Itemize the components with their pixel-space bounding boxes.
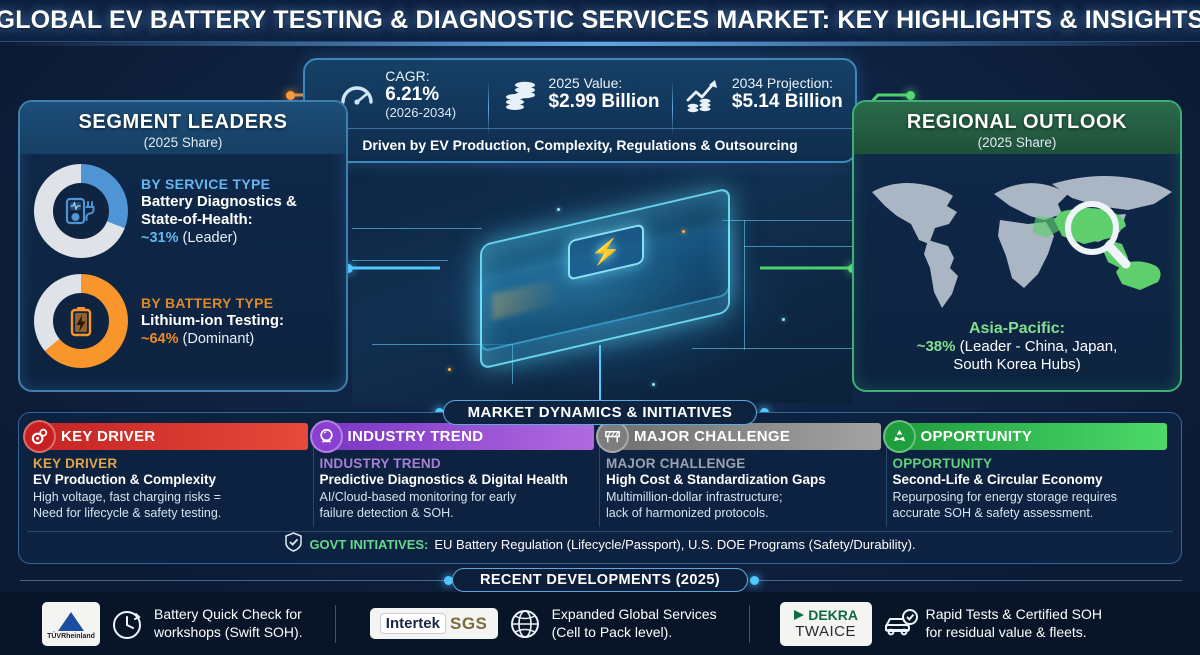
battery-type-share-value: ~64% (141, 331, 179, 347)
shield-check-icon (284, 532, 303, 557)
key-driver-kicker: KEY DRIVER (33, 456, 308, 471)
kpi-cagr-label: CAGR: (385, 68, 456, 84)
regional-outlook-panel: REGIONAL OUTLOOK (2025 Share) (852, 100, 1182, 392)
segment-leaders-subheading: (2025 Share) (144, 135, 223, 150)
major-challenge-desc: Multimillion-dollar infrastructure; lack… (606, 489, 881, 522)
recycle-icon (883, 420, 916, 453)
regional-outlook-subheading: (2025 Share) (978, 135, 1057, 150)
govt-initiatives-row: GOVT INITIATIVES: EU Battery Regulation … (27, 531, 1173, 557)
page-title: GLOBAL EV BATTERY TESTING & DIAGNOSTIC S… (0, 6, 1200, 35)
industry-trend-kicker: INDUSTRY TREND (320, 456, 595, 471)
coins-icon (501, 74, 541, 114)
title-bar: GLOBAL EV BATTERY TESTING & DIAGNOSTIC S… (0, 0, 1200, 42)
connector-node-orange-top (286, 91, 295, 100)
market-dynamics-box: KEY DRIVER KEY DRIVER EV Production & Co… (18, 412, 1182, 564)
govt-initiatives-text: EU Battery Regulation (Lifecycle/Passpor… (434, 537, 915, 552)
battery-type-qualifier: (Dominant) (183, 331, 255, 347)
opportunity-kicker: OPPORTUNITY (893, 456, 1168, 471)
recent-developments-section-label: RECENT DEVELOPMENTS (2025) (452, 568, 748, 592)
tuv-logo-text: TÜVRheinland (47, 633, 95, 640)
recent-dev-item-1: TÜVRheinland Battery Quick Check for wor… (42, 602, 303, 646)
region-share-value: ~38% (917, 338, 956, 355)
dekra-logo-text: DEKRA (808, 607, 858, 623)
service-type-share: ~31% (Leader) (141, 230, 297, 246)
kpi-2025-value: 2025 Value: $2.99 Billion (488, 74, 671, 114)
dekra-triangle-icon (793, 609, 805, 621)
kpi-cagr-value: 6.21% (385, 84, 456, 106)
recent-dev-text-1: Battery Quick Check for workshops (Swift… (154, 606, 303, 641)
kpi-bar: CAGR: 6.21% (2026-2034) (303, 58, 857, 163)
recent-dev-divider-1 (335, 605, 336, 643)
regional-outlook-heading: REGIONAL OUTLOOK (907, 111, 1127, 134)
globe-icon (507, 606, 543, 642)
car-check-icon (881, 606, 917, 642)
kpi-2034-amount: $5.14 Billion (732, 91, 843, 113)
recent-dev-divider-2 (749, 605, 750, 643)
recent-dev-item-2: Intertek SGS Expanded Global Services (C… (370, 606, 717, 642)
opportunity-title: Second-Life & Circular Economy (893, 472, 1168, 487)
battery-type-name: Lithium-ion Testing: (141, 312, 284, 330)
opportunity-desc: Repurposing for energy storage requires … (893, 489, 1168, 522)
recent-developments-row: TÜVRheinland Battery Quick Check for wor… (0, 592, 1200, 655)
industry-trend-header: INDUSTRY TREND (320, 423, 595, 450)
infographic-root: GLOBAL EV BATTERY TESTING & DIAGNOSTIC S… (0, 0, 1200, 655)
kpi-2034-label: 2034 Projection: (732, 75, 843, 91)
industry-trend-header-label: INDUSTRY TREND (348, 428, 484, 445)
crystal-ball-icon (310, 420, 343, 453)
kpi-footer-note: Driven by EV Production, Complexity, Reg… (305, 128, 855, 161)
gears-icon (23, 420, 56, 453)
govt-initiatives-label: GOVT INITIATIVES: (309, 537, 428, 552)
battery-type-donut-chart (34, 274, 128, 368)
recent-dev-item-3: DEKRA TWAICE Rapid Tests & Certified SOH… (780, 602, 1102, 646)
recent-dev-text-3: Rapid Tests & Certified SOH for residual… (926, 606, 1102, 641)
dynamics-col-key-driver: KEY DRIVER KEY DRIVER EV Production & Co… (27, 423, 314, 522)
battery-bolt-icon (53, 293, 109, 349)
title-glow-divider (0, 42, 1200, 46)
regional-outlook-header: REGIONAL OUTLOOK (2025 Share) (854, 102, 1180, 154)
region-detail-text: (Leader - China, Japan, South Korea Hubs… (953, 338, 1117, 373)
key-driver-title: EV Production & Complexity (33, 472, 308, 487)
twaice-logo-text: TWAICE (795, 623, 856, 640)
industry-trend-title: Predictive Diagnostics & Digital Health (320, 472, 595, 487)
segment-row-battery-type: BY BATTERY TYPE Lithium-ion Testing: ~64… (20, 258, 346, 368)
world-map (854, 158, 1180, 318)
dynamics-col-major-challenge: MAJOR CHALLENGE MAJOR CHALLENGE High Cos… (600, 423, 887, 522)
opportunity-header: OPPORTUNITY (893, 423, 1168, 450)
key-driver-header: KEY DRIVER (33, 423, 308, 450)
clock-refresh-icon (109, 606, 145, 642)
kpi-2034-projection: 2034 Projection: $5.14 Billion (672, 74, 855, 114)
segment-leaders-heading: SEGMENT LEADERS (78, 111, 287, 134)
battery-top (480, 187, 730, 370)
industry-trend-desc: AI/Cloud-based monitoring for early fail… (320, 489, 595, 522)
market-dynamics-section-label: MARKET DYNAMICS & INITIATIVES (443, 400, 757, 425)
recent-dev-text-2: Expanded Global Services (Cell to Pack l… (552, 606, 717, 641)
battery-type-share: ~64% (Dominant) (141, 331, 284, 347)
recent-dev-rule-right (754, 580, 1182, 581)
service-type-qualifier: (Leader) (183, 230, 238, 246)
major-challenge-header: MAJOR CHALLENGE (606, 423, 881, 450)
segment-leaders-panel: SEGMENT LEADERS (2025 Share) BY SERV (18, 100, 348, 392)
kpi-2025-amount: $2.99 Billion (549, 91, 660, 113)
region-name: Asia-Pacific: (854, 320, 1180, 338)
battery-diagnostic-device-icon (53, 183, 109, 239)
recent-dev-rule-left (20, 580, 448, 581)
tuv-rheinland-logo: TÜVRheinland (42, 602, 100, 646)
growth-bars-icon (684, 74, 724, 114)
major-challenge-header-label: MAJOR CHALLENGE (634, 428, 790, 445)
ev-battery-illustration: ⚡ (352, 168, 852, 403)
regional-outlook-note: Asia-Pacific: ~38% (Leader - China, Japa… (854, 320, 1180, 374)
region-detail: ~38% (Leader - China, Japan, South Korea… (854, 338, 1180, 374)
intertek-sgs-logo: Intertek SGS (370, 608, 498, 639)
service-type-share-value: ~31% (141, 230, 179, 246)
major-challenge-kicker: MAJOR CHALLENGE (606, 456, 881, 471)
segment-leaders-header: SEGMENT LEADERS (2025 Share) (20, 102, 346, 154)
battery-type-kicker: BY BATTERY TYPE (141, 295, 284, 311)
opportunity-header-label: OPPORTUNITY (921, 428, 1033, 445)
intertek-logo-text: Intertek (380, 613, 446, 634)
dekra-twaice-logo: DEKRA TWAICE (780, 602, 872, 646)
major-challenge-title: High Cost & Standardization Gaps (606, 472, 881, 487)
dynamics-col-opportunity: OPPORTUNITY OPPORTUNITY Second-Life & Ci… (887, 423, 1174, 522)
dekra-logo-text-row: DEKRA (793, 607, 858, 623)
service-type-kicker: BY SERVICE TYPE (141, 176, 297, 192)
kpi-cagr-range: (2026-2034) (385, 105, 456, 120)
key-driver-header-label: KEY DRIVER (61, 428, 155, 445)
segment-row-service-type: BY SERVICE TYPE Battery Diagnostics & St… (20, 154, 346, 258)
dynamics-col-industry-trend: INDUSTRY TREND INDUSTRY TREND Predictive… (314, 423, 601, 522)
market-dynamics-columns: KEY DRIVER KEY DRIVER EV Production & Co… (19, 413, 1181, 522)
service-type-donut-chart (34, 164, 128, 258)
service-type-name: Battery Diagnostics & State-of-Health: (141, 193, 297, 228)
key-driver-desc: High voltage, fast charging risks = Need… (33, 489, 308, 522)
sgs-logo-text: SGS (450, 614, 487, 634)
kpi-2025-label: 2025 Value: (549, 75, 660, 91)
connector-node-green-top (906, 91, 915, 100)
